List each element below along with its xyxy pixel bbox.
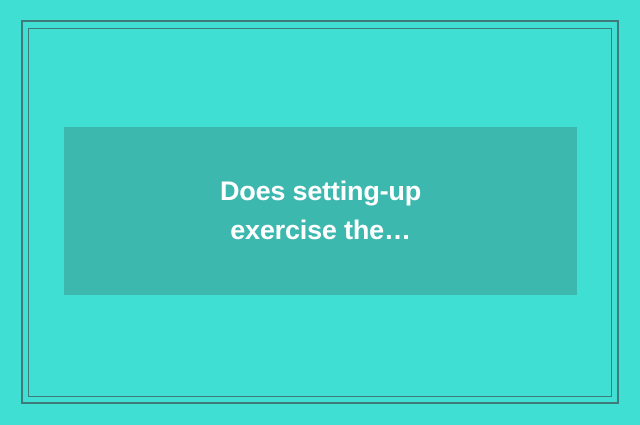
card-canvas: Does setting-up exercise the… xyxy=(0,0,640,425)
card-title: Does setting-up exercise the… xyxy=(220,172,421,251)
title-panel: Does setting-up exercise the… xyxy=(64,127,577,295)
